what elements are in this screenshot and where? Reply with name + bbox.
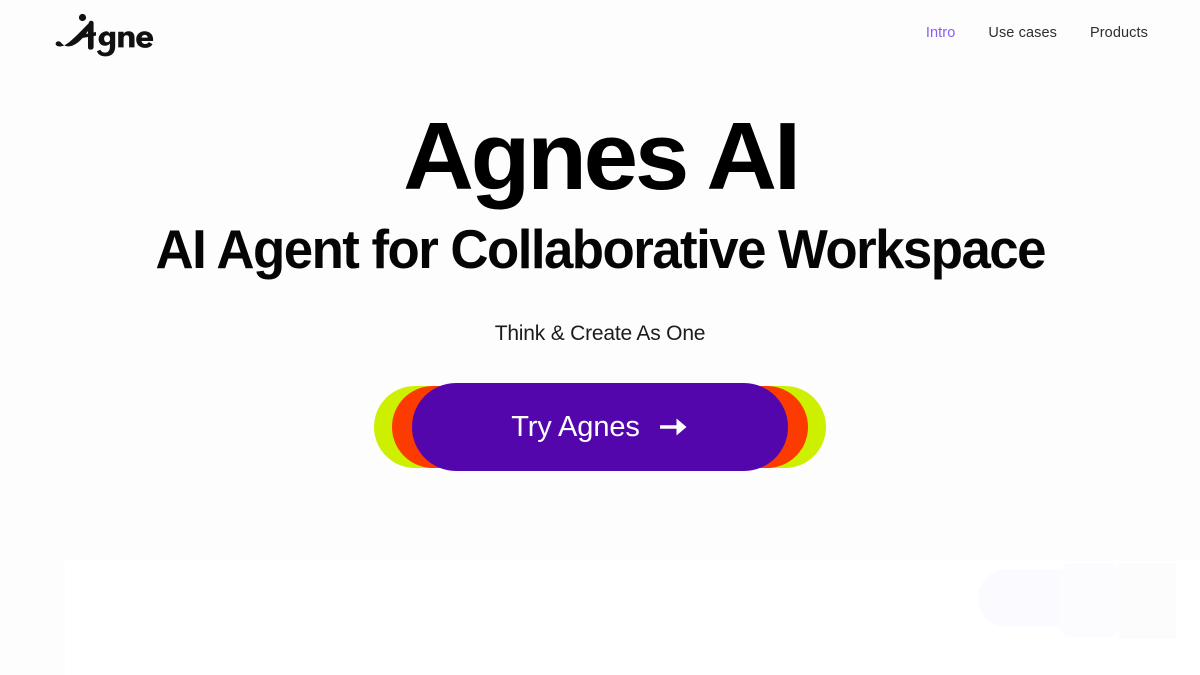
try-agnes-button[interactable]: Try Agnes — [412, 383, 788, 471]
brand-logo-link[interactable] — [52, 9, 156, 57]
below-fold-decoration — [0, 545, 1200, 675]
below-fold-tint — [1118, 563, 1176, 639]
page-title: Agnes AI — [403, 109, 798, 205]
below-fold-blob-right — [1060, 563, 1120, 637]
nav-item-intro[interactable]: Intro — [926, 25, 956, 41]
cta-button-group: Try Agnes — [374, 383, 826, 471]
below-fold-panel — [65, 561, 1200, 675]
hero-tagline: Think & Create As One — [495, 322, 706, 346]
hero-section: Agnes AI AI Agent for Collaborative Work… — [0, 0, 1200, 560]
site-header: Intro Use cases Products — [0, 0, 1200, 66]
arrow-right-icon — [657, 415, 689, 439]
main-nav: Intro Use cases Products — [926, 25, 1148, 41]
hero-subtitle: AI Agent for Collaborative Workspace — [155, 221, 1044, 279]
agnes-script-logo — [52, 11, 156, 57]
nav-item-use-cases[interactable]: Use cases — [988, 25, 1057, 41]
nav-item-products[interactable]: Products — [1090, 25, 1148, 41]
below-fold-blob-left — [978, 569, 1128, 627]
try-agnes-button-label: Try Agnes — [511, 413, 640, 442]
